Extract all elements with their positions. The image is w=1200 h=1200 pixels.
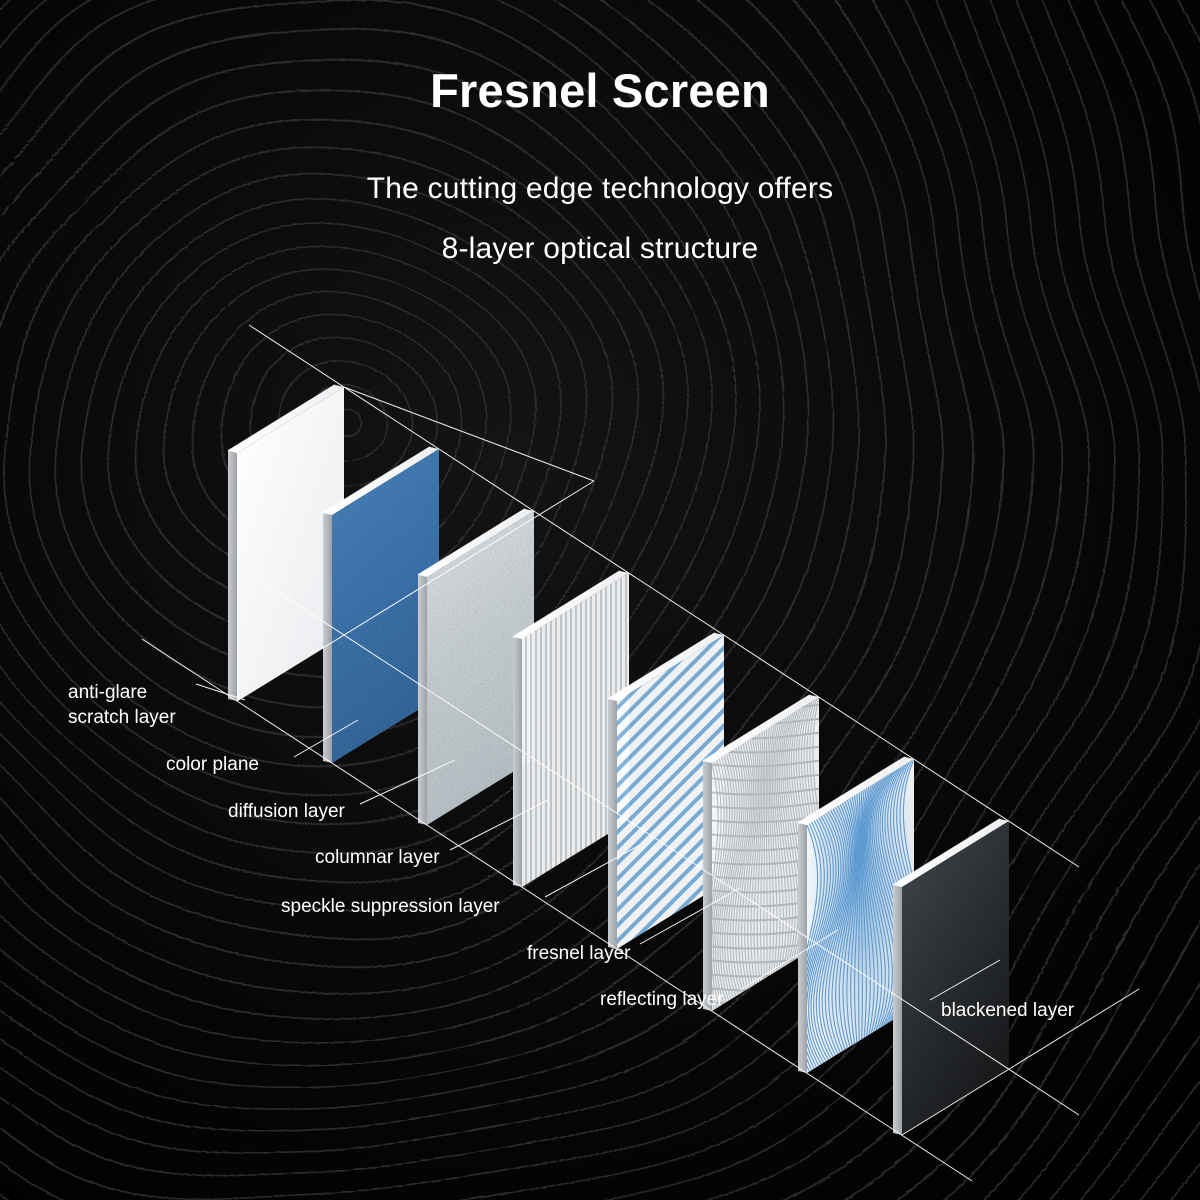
label-diffusion-layer: diffusion layer: [228, 799, 345, 824]
panel-left-edge: [703, 761, 712, 1011]
label-fresnel-layer: fresnel layer: [527, 941, 631, 966]
panel-left-edge: [798, 823, 807, 1073]
wireframe-line: [249, 573, 1079, 1115]
panel-left-edge: [513, 637, 522, 887]
label-anti-glare-scratch-layer: anti-glare scratch layer: [68, 680, 176, 730]
panel-face: [902, 821, 1009, 1135]
label-speckle-suppression-layer: speckle suppression layer: [281, 894, 500, 919]
panel-left-edge: [323, 513, 332, 763]
panel-left-edge: [418, 575, 427, 825]
panel-left-edge: [608, 699, 617, 949]
wireframe-line: [344, 387, 594, 481]
poster-canvas: Fresnel Screen The cutting edge technolo…: [0, 0, 1200, 1200]
label-reflecting-layer: reflecting layer: [600, 987, 724, 1012]
panel-left-edge: [893, 885, 902, 1135]
label-columnar-layer: columnar layer: [315, 845, 440, 870]
label-blackened-layer: blackened layer: [941, 998, 1074, 1023]
panel-left-edge: [228, 451, 237, 701]
label-color-plane: color plane: [166, 752, 259, 777]
